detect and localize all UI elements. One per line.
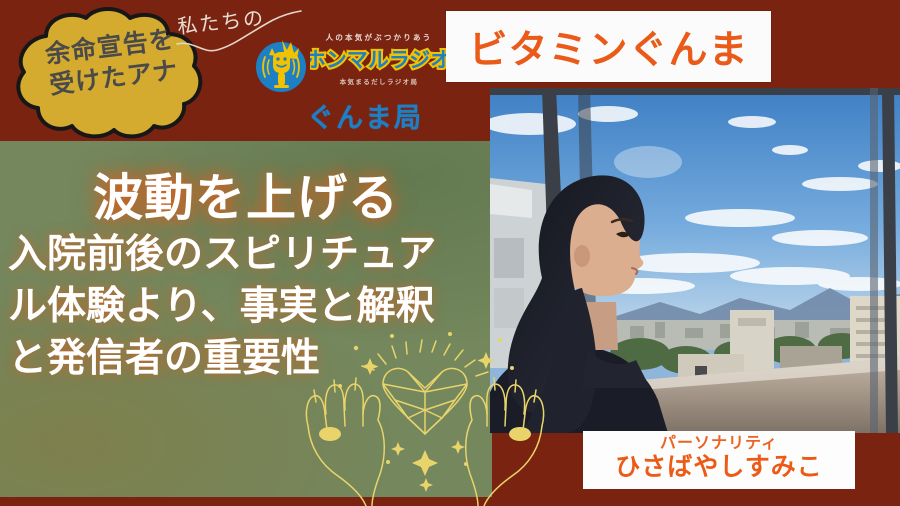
- personality-role-label: パーソナリティ: [660, 436, 778, 452]
- guest-photo: [490, 88, 900, 433]
- episode-subtitle-line-3: と発信者の重要性: [8, 333, 486, 385]
- episode-headline: 波動を上げる: [0, 158, 492, 230]
- logo-branch-label: ぐんま局: [290, 96, 440, 135]
- logo-wordmark-text: ホンマルラジオ: [310, 49, 446, 72]
- episode-subtitle: 入院前後のスピリチュア ル体験より、事実と解釈 と発信者の重要性: [8, 229, 486, 385]
- photo-illustration-icon: [490, 88, 900, 433]
- episode-text-panel: 波動を上げる 入院前後のスピリチュア ル体験より、事実と解釈 と発信者の重要性: [0, 141, 492, 497]
- honmaru-character-icon: [252, 36, 310, 94]
- logo-subtext: 本気まるだしラジオ局: [314, 76, 444, 86]
- program-title-banner: ビタミンぐんま: [446, 11, 771, 82]
- episode-subtitle-line-1: 入院前後のスピリチュア: [8, 229, 486, 281]
- thumbnail-canvas: 余命宣告を 受けたアナ 私たちの 人の本気がぶつかりあう: [0, 0, 900, 506]
- station-logo: 人の本気がぶつかりあう ホンマルラジオ 本気まるだしラジオ局 ぐんま局: [252, 28, 442, 138]
- personality-caption: パーソナリティ ひさばやしすみこ: [583, 431, 855, 489]
- logo-wordmark-icon: ホンマルラジオ: [310, 42, 446, 76]
- personality-name: ひさばやしすみこ: [615, 452, 823, 483]
- episode-subtitle-line-2: ル体験より、事実と解釈: [8, 281, 486, 333]
- program-title-text: ビタミンぐんま: [468, 19, 748, 75]
